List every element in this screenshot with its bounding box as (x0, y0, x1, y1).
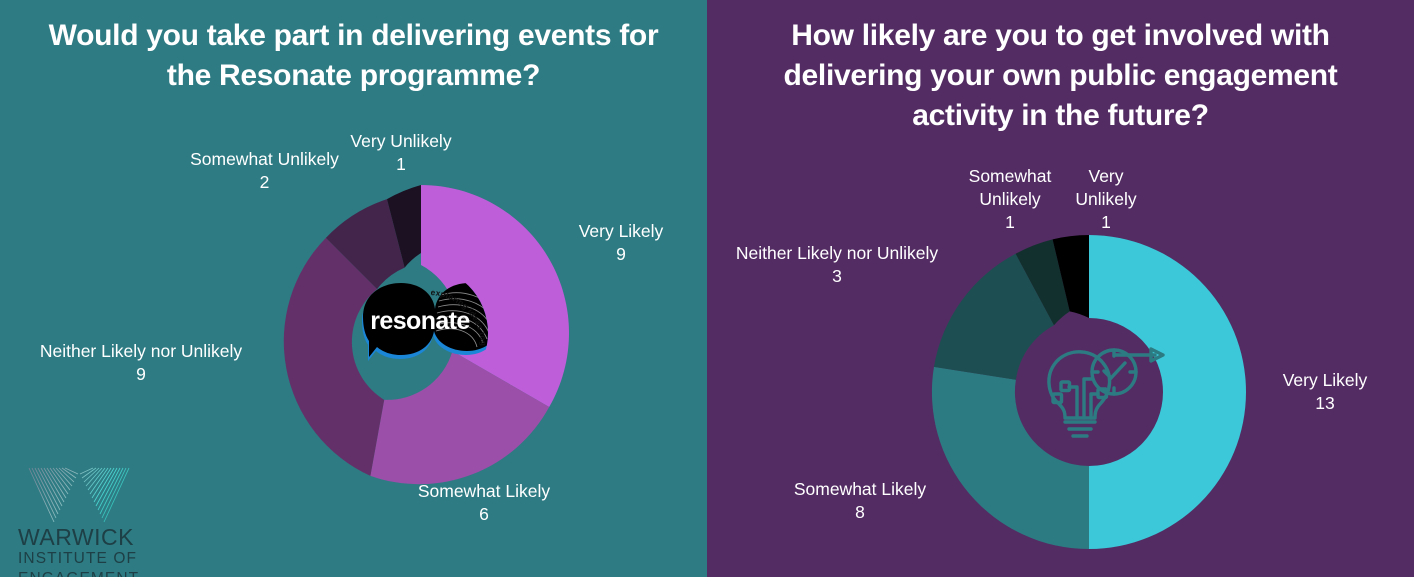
label-value: 13 (1264, 392, 1386, 415)
label-text: Somewhat Likely (794, 479, 926, 499)
label-text: Somewhat Unlikely (969, 166, 1052, 209)
left-chart-panel: Would you take part in delivering events… (0, 0, 707, 577)
label-text: Neither Likely nor Unlikely (736, 243, 938, 263)
left-donut-chart: exploring ideas together resonate (273, 185, 569, 481)
slide-root: Would you take part in delivering events… (0, 0, 1414, 577)
label-text: Very Likely (1283, 370, 1368, 390)
right-chart-panel: How likely are you to get involved with … (707, 0, 1414, 577)
right-chart-title: How likely are you to get involved with … (707, 16, 1414, 136)
label-value: 3 (720, 265, 954, 288)
label-somewhat-unlikely-right: Somewhat Unlikely 1 (960, 165, 1060, 234)
label-somewhat-likely-right: Somewhat Likely 8 (774, 478, 946, 524)
label-very-unlikely-left: Very Unlikely 1 (341, 130, 461, 176)
left-chart-title: Would you take part in delivering events… (0, 16, 707, 96)
lightbulb-clock-arrow-icon (1049, 349, 1163, 436)
label-text: Very Unlikely (1075, 166, 1136, 209)
warwick-w-mark-icon (27, 466, 133, 524)
warwick-logo-text: WARWICK INSTITUTE OF ENGAGEMENT (18, 525, 144, 577)
label-very-unlikely-right: Very Unlikely 1 (1063, 165, 1149, 234)
label-value: 9 (24, 363, 258, 386)
label-neither-right: Neither Likely nor Unlikely 3 (720, 242, 954, 288)
label-value: 9 (560, 243, 682, 266)
label-value: 8 (774, 501, 946, 524)
label-value: 2 (178, 171, 351, 194)
svg-text:resonate: resonate (370, 307, 470, 335)
label-value: 1 (341, 153, 461, 176)
slice-somewhat-likely (932, 367, 1089, 549)
label-text: Very Likely (579, 221, 664, 241)
label-value: 6 (398, 503, 570, 526)
label-very-likely-right: Very Likely 13 (1264, 369, 1386, 415)
label-neither-left: Neither Likely nor Unlikely 9 (24, 340, 258, 386)
label-text: Somewhat Unlikely (190, 149, 339, 169)
label-value: 1 (1063, 211, 1149, 234)
label-text: Neither Likely nor Unlikely (40, 341, 242, 361)
warwick-line-2: INSTITUTE OF (18, 549, 144, 569)
label-somewhat-unlikely-left: Somewhat Unlikely 2 (178, 148, 351, 194)
label-value: 1 (960, 211, 1060, 234)
label-somewhat-likely-left: Somewhat Likely 6 (398, 480, 570, 526)
label-very-likely-left: Very Likely 9 (560, 220, 682, 266)
label-text: Somewhat Likely (418, 481, 550, 501)
right-donut-chart (932, 235, 1246, 549)
warwick-line-1: WARWICK (18, 525, 144, 549)
label-text: Very Unlikely (350, 131, 451, 151)
warwick-line-3: ENGAGEMENT (18, 569, 144, 577)
warwick-institute-logo: WARWICK INSTITUTE OF ENGAGEMENT (18, 466, 144, 577)
